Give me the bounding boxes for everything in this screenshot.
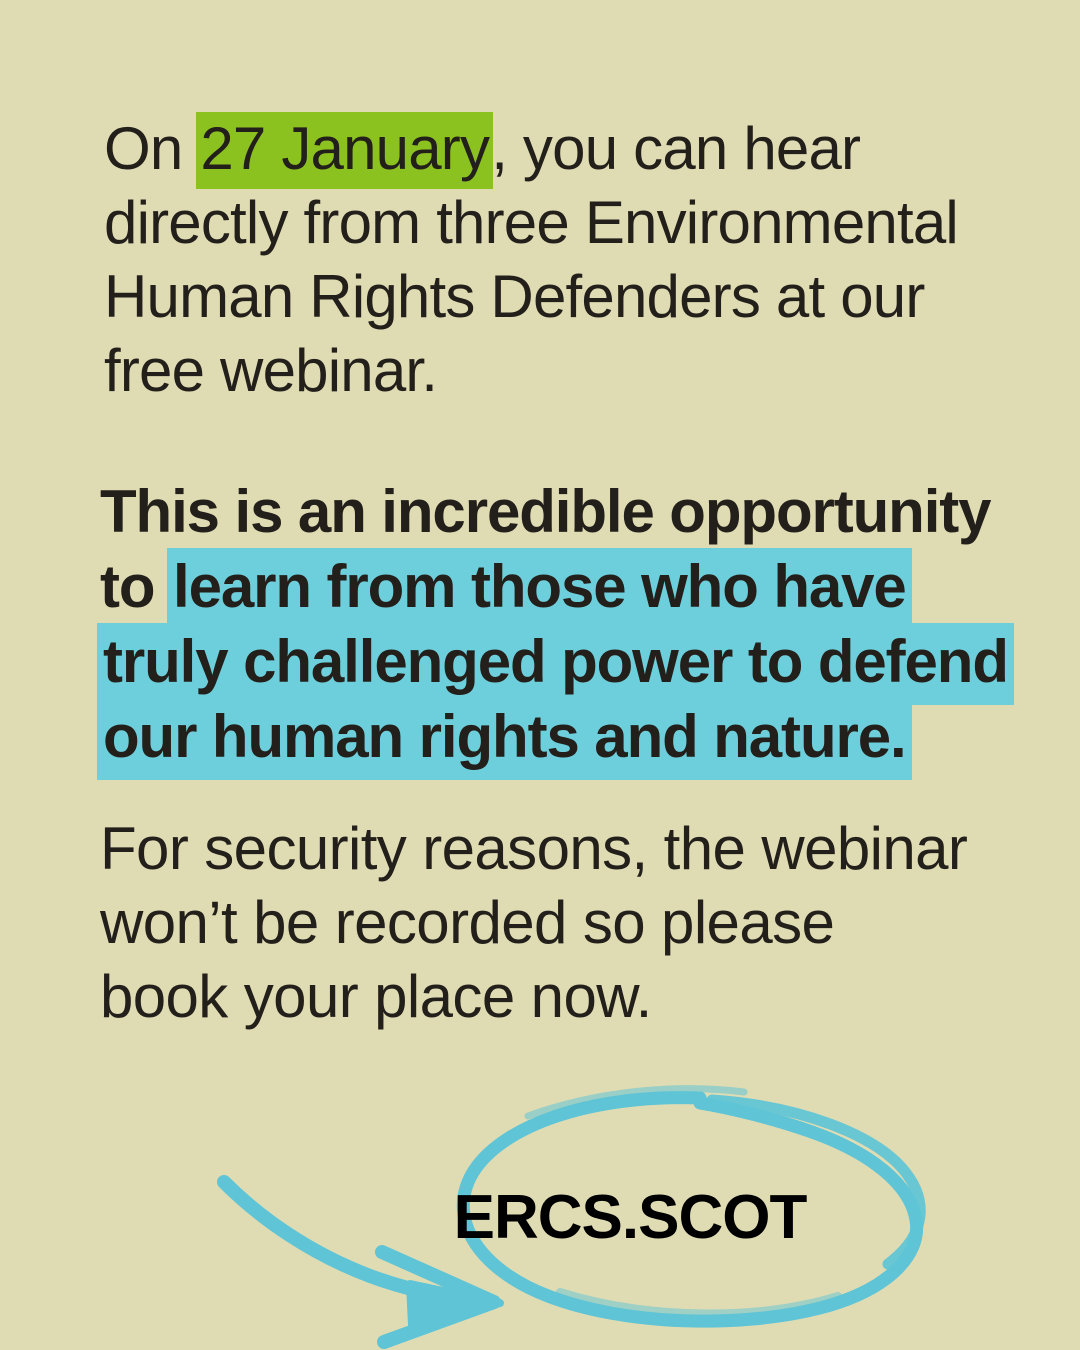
paragraph-outro: For security reasons, the webinar won’t … (100, 812, 1004, 1034)
paragraph-spacer (104, 438, 1004, 474)
emphasis-line-1: This is an incredible opportunity (100, 474, 1004, 549)
emphasis-line-2-prefix: to (100, 553, 170, 620)
emphasis-line-2: to learn from those who have (100, 549, 1004, 624)
highlight-emphasis-c: our human rights and nature. (100, 701, 909, 777)
highlight-emphasis-a: learn from those who have (170, 551, 909, 627)
copy-block: On 27 January, you can hear directly fro… (104, 112, 1004, 1034)
highlight-date: 27 January (198, 114, 491, 187)
emphasis-line-4: our human rights and nature. (100, 699, 1004, 774)
outro-line-2: won’t be recorded so please (100, 886, 1004, 960)
paragraph-intro: On 27 January, you can hear directly fro… (104, 112, 1004, 408)
intro-line-4: free webinar. (104, 334, 1004, 408)
intro-line-1-prefix: On (104, 115, 198, 182)
url-label[interactable]: ERCS.SCOT (0, 1182, 1080, 1253)
intro-line-1: On 27 January, you can hear (104, 112, 1004, 186)
intro-line-1-suffix: , you can hear (491, 115, 860, 182)
intro-line-3: Human Rights Defenders at our (104, 260, 1004, 334)
emphasis-line-3: truly challenged power to defend (100, 624, 1004, 699)
outro-line-3: book your place now. (100, 960, 1004, 1034)
intro-line-2: directly from three Environmental (104, 186, 1004, 260)
outro-line-1: For security reasons, the webinar (100, 812, 1004, 886)
paragraph-emphasis: This is an incredible opportunity to lea… (100, 474, 1004, 774)
highlight-emphasis-b: truly challenged power to defend (100, 626, 1011, 702)
poster-canvas: On 27 January, you can hear directly fro… (0, 0, 1080, 1350)
